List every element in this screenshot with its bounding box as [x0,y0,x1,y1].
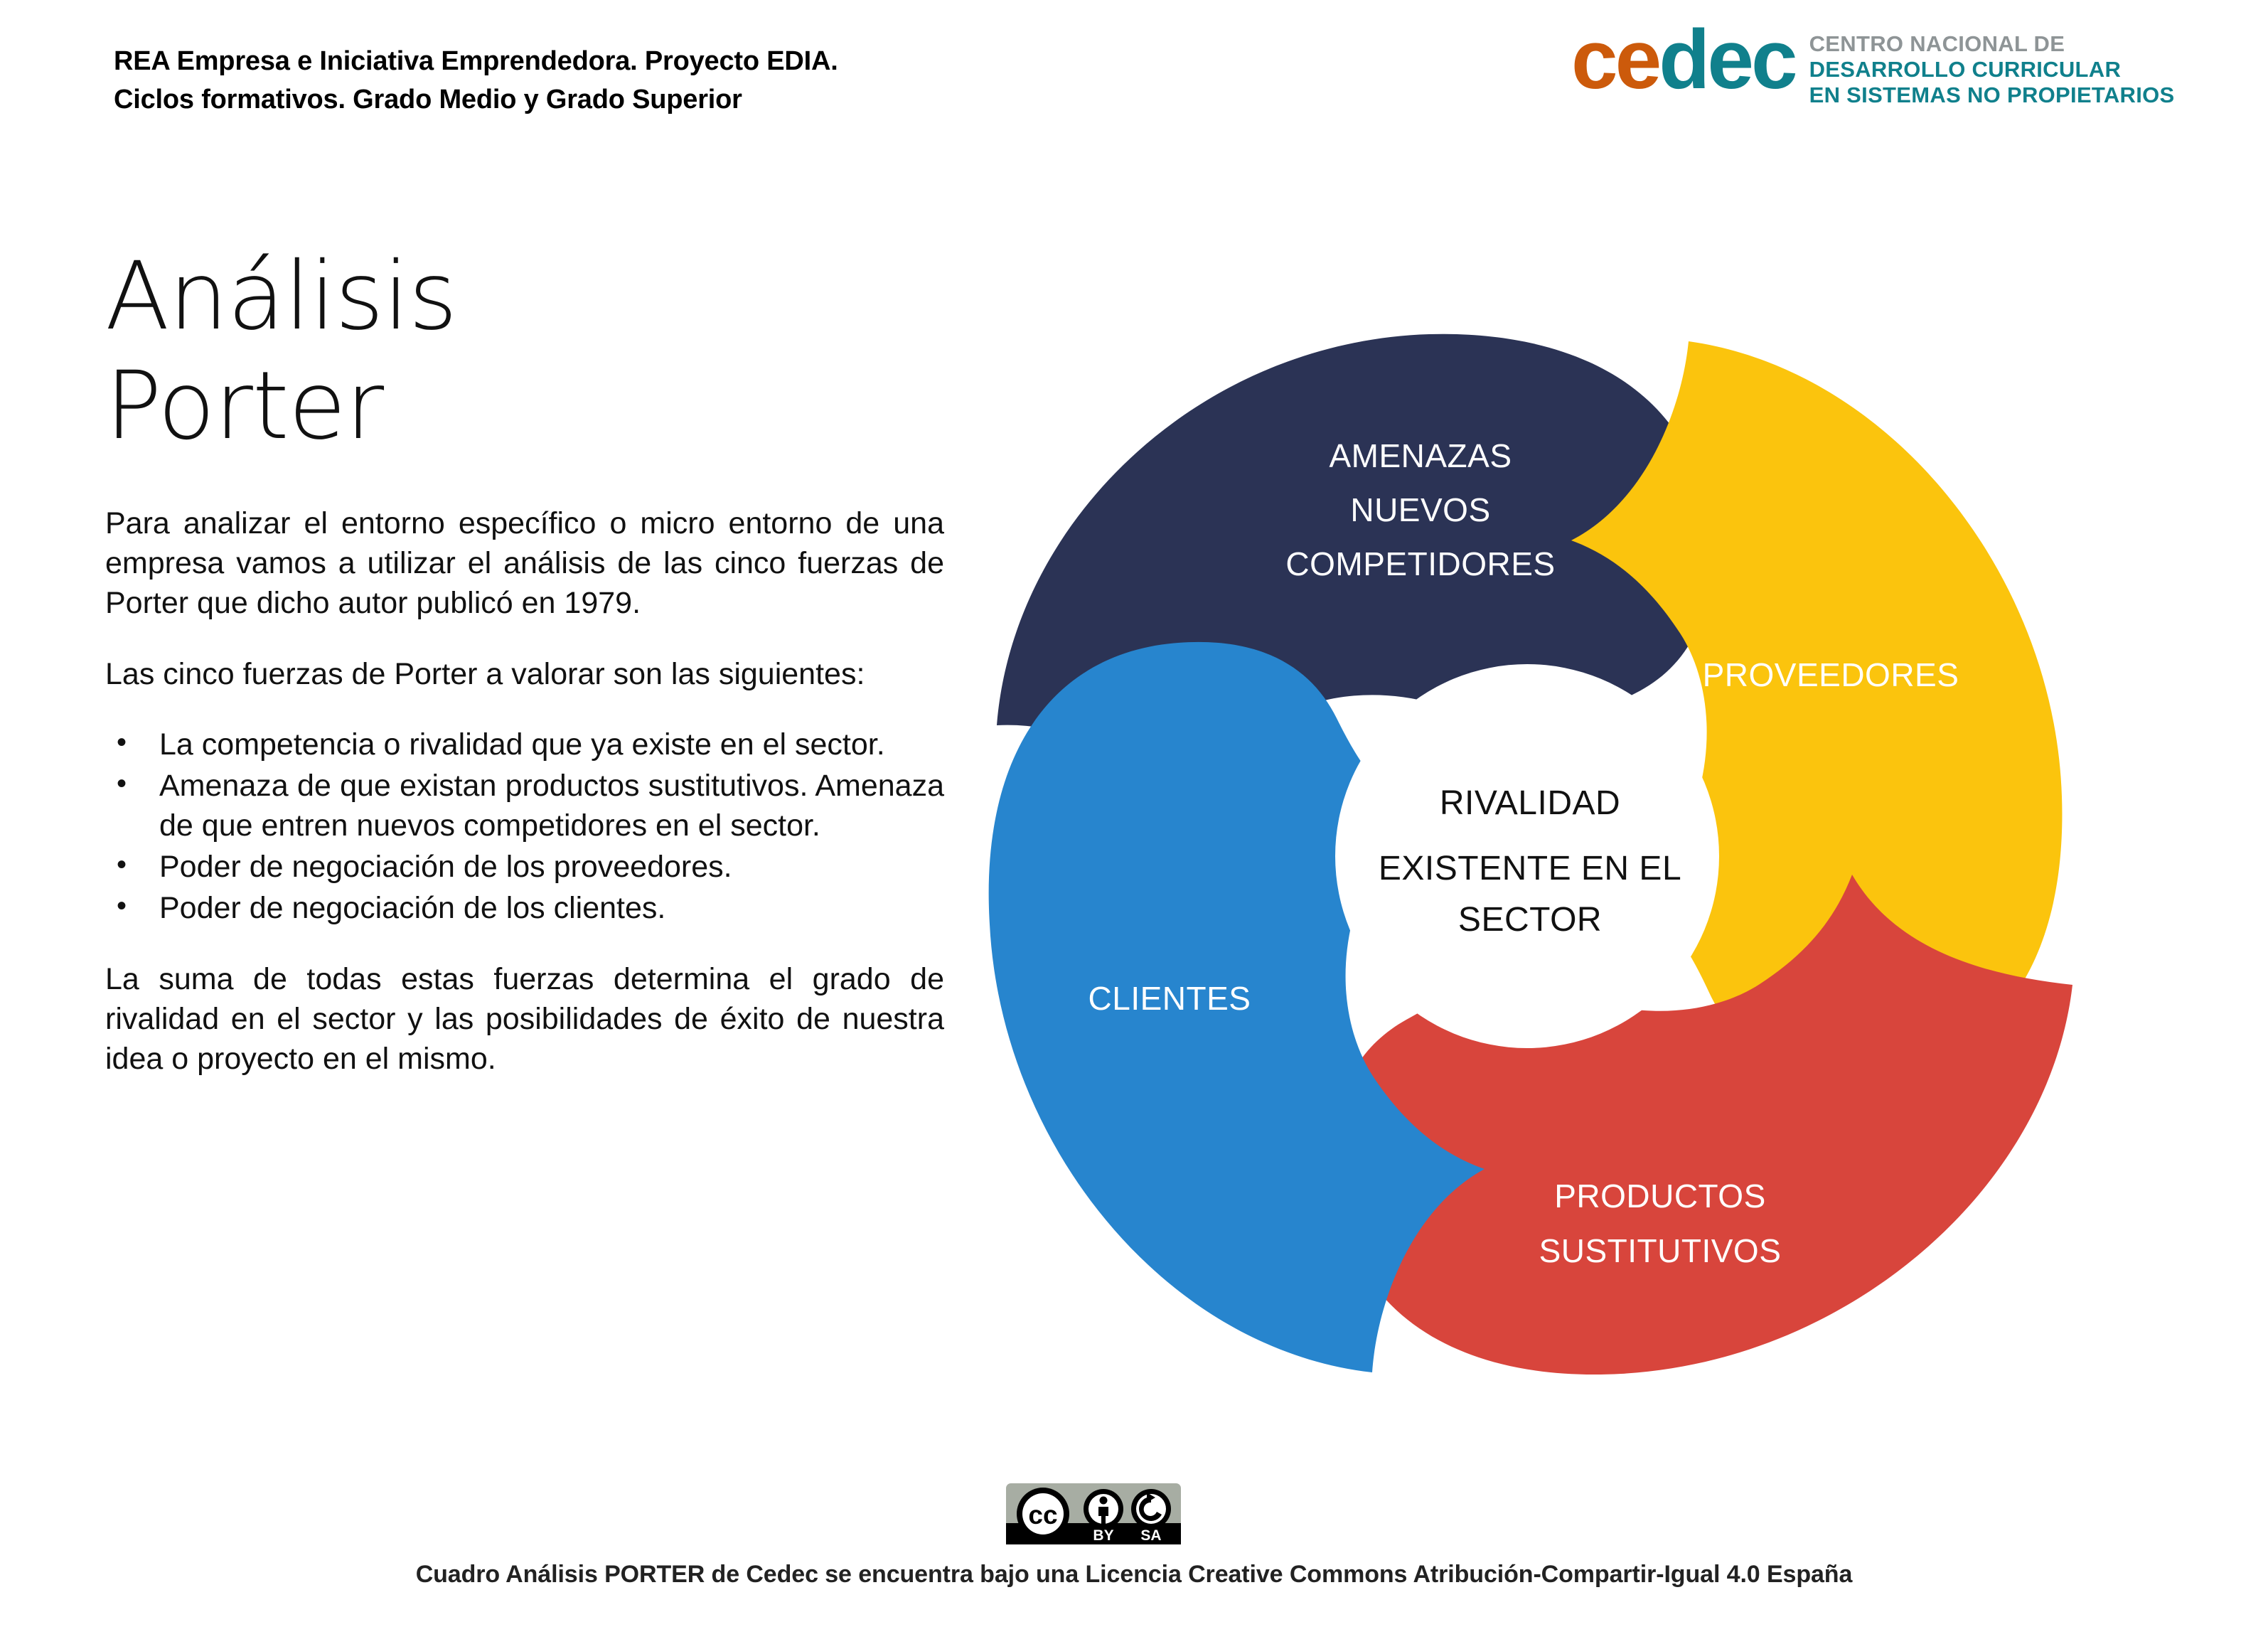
cedec-tagline: CENTRO NACIONAL DE DESARROLLO CURRICULAR… [1809,31,2175,108]
cc-sa-sharealike-icon [1131,1489,1171,1529]
page-title-line-1: Análisis [105,242,944,351]
list-item: •Poder de negociación de los clientes. [105,889,944,929]
petal-amenazas-line-1: AMENAZAS [1329,437,1512,474]
list-item: •Amenaza de que existan productos sustit… [105,767,944,846]
cedec-wordmark-ce: ce [1571,13,1659,107]
cedec-tagline-line-1: CENTRO NACIONAL DE [1809,31,2175,57]
bullet-glyph: • [117,765,127,802]
cedec-tagline-line-3: EN SISTEMAS NO PROPIETARIOS [1809,82,2175,108]
list-item: •Poder de negociación de los proveedores… [105,848,944,887]
cedec-wordmark-dec: dec [1659,13,1794,107]
list-item-label: La competencia o rivalidad que ya existe… [159,727,885,762]
header-course-title: REA Empresa e Iniciativa Emprendedora. P… [114,43,1109,119]
cc-by-label: BY [1093,1527,1113,1544]
page-title-line-2: Porter [105,351,944,461]
left-content-column: Análisis Porter Para analizar el entorno… [105,242,944,1111]
creative-commons-badge[interactable]: cc BY SA [1006,1483,1181,1544]
page-title: Análisis Porter [105,242,944,461]
cc-sa-label: SA [1140,1527,1161,1544]
cc-letters: cc [1028,1500,1057,1530]
center-line-1: RIVALIDAD [1440,784,1620,822]
header-title-line-2: Ciclos formativos. Grado Medio y Grado S… [114,81,1109,119]
bullet-glyph: • [117,887,127,924]
page-header: REA Empresa e Iniciativa Emprendedora. P… [0,0,2268,149]
bullet-glyph: • [117,724,127,761]
cc-circle-icon: cc [1017,1488,1069,1540]
center-line-2: EXISTENTE EN EL [1379,850,1681,887]
petal-clientes-label: CLIENTES [1088,980,1251,1017]
bullet-glyph: • [117,846,127,883]
cedec-logo: cedec CENTRO NACIONAL DE DESARROLLO CURR… [1571,20,2175,108]
conclusion-paragraph: La suma de todas estas fuerzas determina… [105,960,944,1079]
petal-amenazas-line-2: NUEVOS [1350,491,1490,528]
header-title-line-1: REA Empresa e Iniciativa Emprendedora. P… [114,43,1109,81]
petal-clientes-line-1: CLIENTES [1088,980,1251,1017]
petal-proveedores-label: PROVEEDORES [1703,656,1959,693]
cedec-tagline-line-2: DESARROLLO CURRICULAR [1809,57,2175,82]
petal-proveedores-line-1: PROVEEDORES [1703,656,1959,693]
cc-by-person-icon [1084,1489,1123,1529]
list-item-label: Amenaza de que existan productos sustitu… [159,769,944,843]
porter-five-forces-diagram: AMENAZAS NUEVOS COMPETIDORES PROVEEDORES… [946,299,2112,1415]
petal-productos-line-1: PRODUCTOS [1554,1178,1766,1215]
petal-productos-line-2: SUSTITUTIVOS [1539,1232,1782,1269]
cedec-wordmark: cedec [1571,20,1795,100]
five-forces-list: •La competencia o rivalidad que ya exist… [105,725,944,928]
center-line-3: SECTOR [1458,901,1602,939]
license-footer-text: Cuadro Análisis PORTER de Cedec se encue… [0,1561,2268,1589]
forces-intro-paragraph: Las cinco fuerzas de Porter a valorar so… [105,655,944,695]
list-item: •La competencia o rivalidad que ya exist… [105,725,944,765]
intro-paragraph: Para analizar el entorno específico o mi… [105,504,944,624]
list-item-label: Poder de negociación de los clientes. [159,891,665,925]
list-item-label: Poder de negociación de los proveedores. [159,850,732,884]
petal-amenazas-line-3: COMPETIDORES [1285,545,1555,582]
